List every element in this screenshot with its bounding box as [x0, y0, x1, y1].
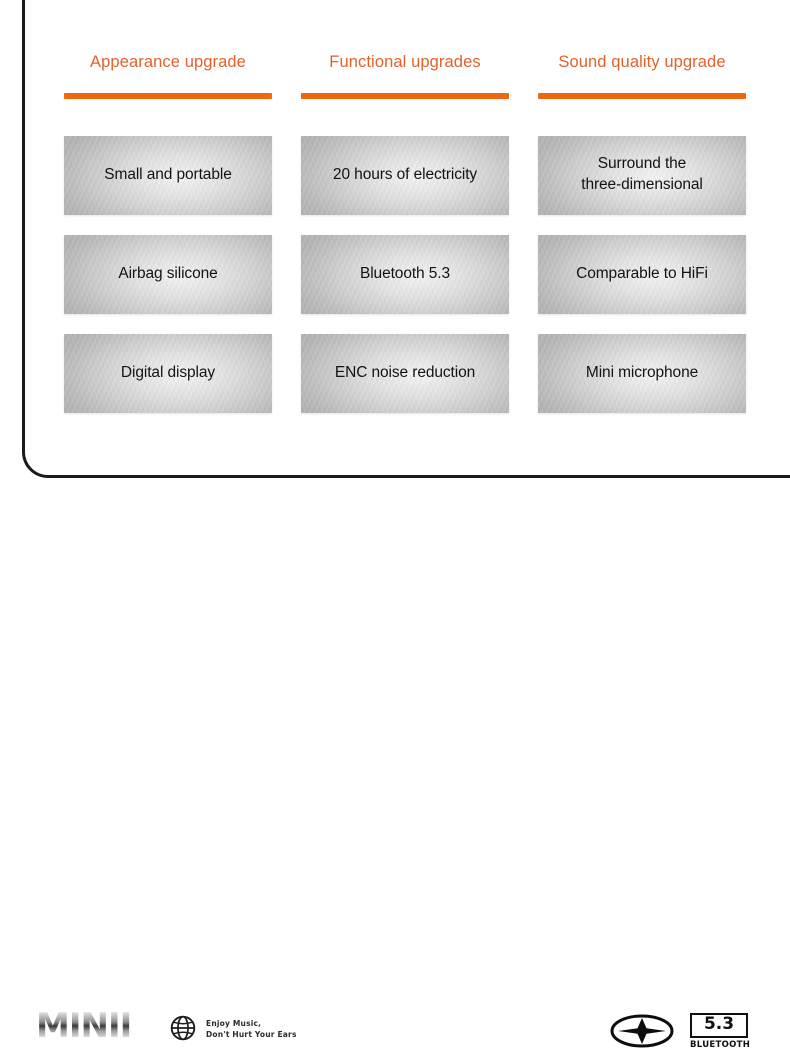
feature-card-label: Surround the three-dimensional — [581, 154, 703, 195]
bluetooth-version-value: 5.3 — [690, 1013, 748, 1038]
column-underline-appearance — [64, 93, 272, 99]
column-underline-functional — [301, 93, 509, 99]
card-list-functional: 20 hours of electricity Bluetooth 5.3 EN… — [301, 136, 509, 413]
feature-card-label: Comparable to HiFi — [576, 264, 708, 285]
feature-card-label: Mini microphone — [586, 363, 698, 384]
feature-card[interactable]: Airbag silicone — [64, 235, 272, 314]
bluetooth-badge: 5.3 BLUETOOTH — [690, 1013, 748, 1050]
feature-column-sound-quality: Sound quality upgrade Surround the three… — [538, 54, 746, 413]
feature-card-label: Digital display — [121, 363, 215, 384]
bluetooth-label: BLUETOOTH — [690, 1040, 748, 1050]
feature-column-appearance: Appearance upgrade Small and portable Ai… — [64, 54, 272, 413]
card-list-appearance: Small and portable Airbag silicone Digit… — [64, 136, 272, 413]
feature-card-label-line1: Surround the — [598, 155, 686, 172]
column-header-appearance: Appearance upgrade — [64, 54, 272, 72]
feature-card-label: Small and portable — [104, 165, 231, 186]
feature-card[interactable]: Comparable to HiFi — [538, 235, 746, 314]
feature-column-functional: Functional upgrades 20 hours of electric… — [301, 54, 509, 413]
feature-card[interactable]: 20 hours of electricity — [301, 136, 509, 215]
footer-logo-strip: MINII Enjoy Music, Don't Hurt Your Ears … — [0, 498, 790, 568]
feature-card-label-line2: three-dimensional — [581, 176, 703, 193]
feature-card-label: 20 hours of electricity — [333, 165, 477, 186]
column-header-sound-quality: Sound quality upgrade — [538, 54, 746, 72]
feature-card[interactable]: Surround the three-dimensional — [538, 136, 746, 215]
card-list-sound-quality: Surround the three-dimensional Comparabl… — [538, 136, 746, 413]
feature-card[interactable]: Small and portable — [64, 136, 272, 215]
column-underline-sound-quality — [538, 93, 746, 99]
feature-card[interactable]: Bluetooth 5.3 — [301, 235, 509, 314]
feature-card-label: Airbag silicone — [118, 264, 217, 285]
feature-card[interactable]: ENC noise reduction — [301, 334, 509, 413]
brand-tagline: Enjoy Music, Don't Hurt Your Ears — [206, 1019, 297, 1041]
brand-tagline-line1: Enjoy Music, — [206, 1019, 297, 1030]
column-header-functional: Functional upgrades — [301, 54, 509, 72]
feature-card-label: Bluetooth 5.3 — [360, 264, 450, 285]
feature-card[interactable]: Digital display — [64, 334, 272, 413]
feature-card[interactable]: Mini microphone — [538, 334, 746, 413]
brand-tagline-line2: Don't Hurt Your Ears — [206, 1030, 297, 1041]
globe-icon — [170, 1015, 196, 1046]
star-oval-emblem-icon — [610, 1014, 674, 1053]
brand-wordmark: MINII — [36, 1009, 131, 1043]
feature-grid: Appearance upgrade Small and portable Ai… — [64, 54, 748, 413]
feature-card-label: ENC noise reduction — [335, 363, 475, 384]
